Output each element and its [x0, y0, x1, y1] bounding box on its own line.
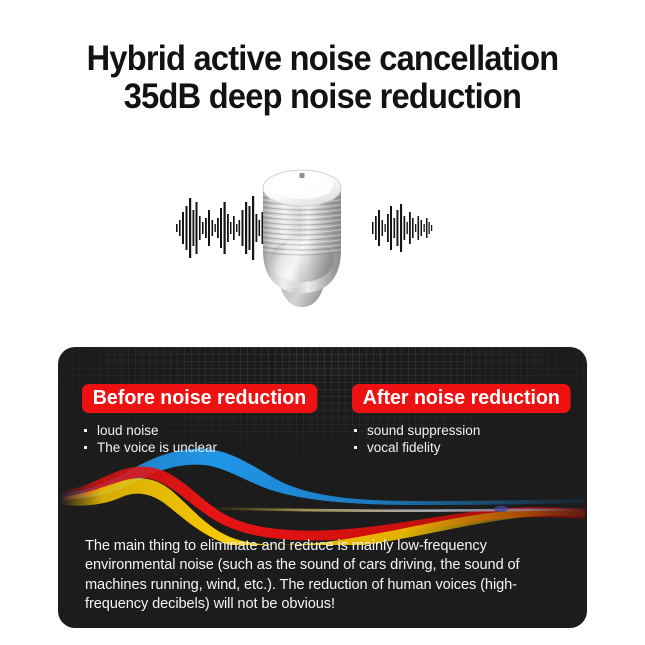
- list-item: loud noise: [82, 422, 328, 439]
- page-title: Hybrid active noise cancellation 35dB de…: [0, 40, 645, 116]
- wave-red: [60, 467, 585, 541]
- noise-wave-graphic: [58, 445, 587, 545]
- after-column: After noise reduction sound suppression …: [352, 384, 584, 456]
- wave-yellow: [60, 478, 585, 545]
- audio-waveform-right: [372, 204, 432, 252]
- earbud-top-cap: [263, 170, 341, 206]
- title-line-1: Hybrid active noise cancellation: [23, 40, 623, 78]
- before-bullet-list: loud noise The voice is unclear: [82, 422, 328, 456]
- list-item: The voice is unclear: [82, 439, 328, 456]
- after-bullet-list: sound suppression vocal fidelity: [352, 422, 584, 456]
- wave-node-dot: [494, 506, 508, 512]
- after-noise-reduction-label: After noise reduction: [352, 384, 571, 413]
- mic-hole-icon: [300, 173, 305, 178]
- panel-description-paragraph: The main thing to eliminate and reduce i…: [85, 537, 567, 614]
- list-item: vocal fidelity: [352, 439, 584, 456]
- wave-tail-line: [208, 507, 585, 512]
- before-noise-reduction-label: Before noise reduction: [82, 384, 317, 413]
- wave-blue: [60, 449, 585, 505]
- title-line-2: 35dB deep noise reduction: [23, 78, 623, 116]
- noise-reduction-panel: Before noise reduction loud noise The vo…: [58, 347, 587, 628]
- before-column: Before noise reduction loud noise The vo…: [82, 384, 328, 456]
- list-item: sound suppression: [352, 422, 584, 439]
- product-hero: [0, 132, 645, 342]
